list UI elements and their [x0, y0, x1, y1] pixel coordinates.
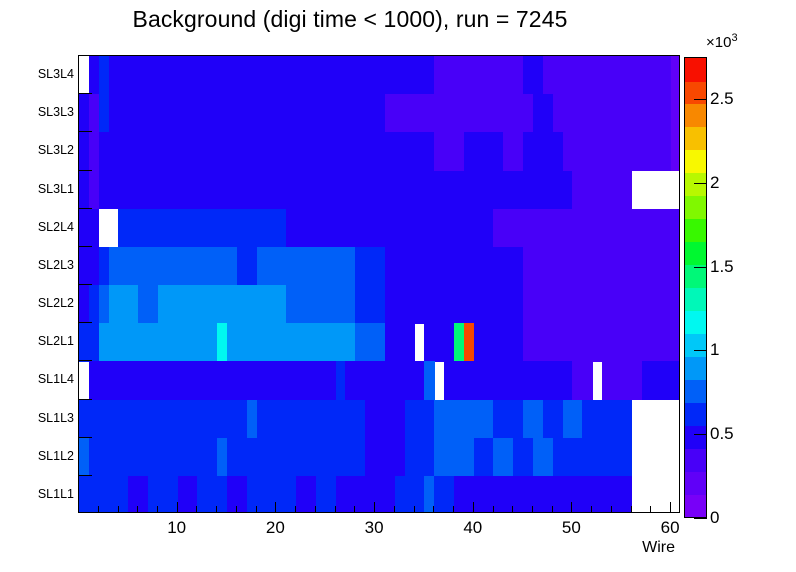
color-bar-tick-label: 0: [710, 508, 719, 528]
x-axis-tick: [552, 506, 553, 513]
heatmap-cell: [622, 400, 632, 439]
y-axis-label-sl2l2: SL2L2: [38, 296, 74, 310]
x-axis-tick: [335, 506, 336, 513]
y-axis-labels: SL3L4SL3L3SL3L2SL3L1SL2L4SL2L3SL2L2SL2L1…: [0, 0, 74, 572]
color-bar-tick-label: 0.5: [710, 424, 734, 444]
heatmap-cell: [405, 323, 415, 362]
x-axis-tick: [315, 506, 316, 513]
color-bar-tick-label: 2: [710, 173, 719, 193]
x-axis-tick-label: 30: [365, 518, 384, 538]
x-axis-tick-label: 60: [661, 518, 680, 538]
x-axis-tick: [118, 506, 119, 513]
y-axis-tick: [78, 399, 92, 400]
color-bar-band: [685, 310, 706, 334]
y-axis-label-sl3l4: SL3L4: [38, 67, 74, 81]
y-axis-tick: [78, 246, 92, 247]
x-axis-tick: [196, 506, 197, 513]
heatmap-cell: [671, 56, 679, 95]
y-axis-label-sl3l2: SL3L2: [38, 143, 74, 157]
y-axis-tick: [78, 131, 92, 132]
root-canvas: Background (digi time < 1000), run = 724…: [0, 0, 796, 572]
x-axis-tick: [473, 502, 474, 513]
y-axis-label-sl1l1: SL1L1: [38, 487, 74, 501]
x-axis-tick-label: 40: [463, 518, 482, 538]
x-axis-tick: [374, 502, 375, 513]
color-bar-band: [685, 356, 706, 380]
color-bar-tick-label: 2.5: [710, 89, 734, 109]
color-bar-tick: [694, 267, 707, 268]
color-bar-band: [685, 127, 706, 151]
y-axis-tick: [78, 170, 92, 171]
heatmap-cell: [671, 94, 679, 133]
y-axis-label-sl2l3: SL2L3: [38, 258, 74, 272]
heatmap-cell: [89, 209, 99, 248]
x-axis-tick: [236, 506, 237, 513]
heatmap-cell: [622, 438, 632, 477]
y-axis-tick: [78, 93, 92, 94]
color-bar: [684, 57, 707, 518]
x-axis-tick: [571, 502, 572, 513]
chart-title: Background (digi time < 1000), run = 724…: [0, 6, 700, 33]
y-axis-label-sl2l1: SL2L1: [38, 334, 74, 348]
color-bar-exponent: ×103: [706, 32, 738, 51]
color-bar-band: [685, 333, 706, 357]
x-axis-tick: [591, 506, 592, 513]
color-bar-tick-label: 1: [710, 340, 719, 360]
x-axis-tick: [512, 506, 513, 513]
color-bar-band: [685, 448, 706, 472]
y-axis-label-sl1l4: SL1L4: [38, 372, 74, 386]
color-bar-exponent-power: 3: [731, 32, 737, 44]
x-axis-tick: [453, 506, 454, 513]
heatmap-cell: [671, 132, 679, 171]
color-bar-exponent-base: ×10: [706, 34, 731, 51]
x-axis-tick-label: 20: [266, 518, 285, 538]
color-bar-band: [685, 104, 706, 128]
color-bar-band: [685, 379, 706, 403]
color-bar-tick: [694, 350, 707, 351]
color-bar-band: [685, 81, 706, 105]
y-axis-tick: [78, 360, 92, 361]
color-bar-band: [685, 58, 706, 82]
heatmap-cell: [622, 171, 632, 210]
y-axis-label-sl1l2: SL1L2: [38, 449, 74, 463]
x-axis-tick: [433, 506, 434, 513]
color-bar-band: [685, 494, 706, 518]
color-bar-band: [685, 288, 706, 312]
x-axis-tick: [650, 506, 651, 513]
x-axis-tick: [394, 506, 395, 513]
color-bar-band: [685, 150, 706, 174]
color-bar-band: [685, 173, 706, 197]
x-axis-tick: [275, 502, 276, 513]
color-bar-band: [685, 471, 706, 495]
y-axis-tick: [78, 322, 92, 323]
x-axis-tick: [137, 506, 138, 513]
x-axis-tick: [216, 506, 217, 513]
heatmap-cell: [582, 361, 592, 400]
plot-frame: [78, 55, 680, 513]
y-axis-tick: [78, 284, 92, 285]
x-axis-tick: [256, 506, 257, 513]
y-axis-tick: [78, 475, 92, 476]
color-bar-tick: [694, 183, 707, 184]
x-axis-tick: [157, 506, 158, 513]
color-bar-tick: [694, 99, 707, 100]
heatmap-cell: [671, 247, 679, 286]
color-bar-band: [685, 196, 706, 220]
x-axis-title: Wire: [642, 539, 675, 557]
color-bar-tick: [694, 518, 707, 519]
x-axis-tick: [611, 506, 612, 513]
y-axis-tick: [78, 208, 92, 209]
color-bar-tick: [694, 434, 707, 435]
color-bar-band: [685, 425, 706, 449]
x-axis-tick: [98, 506, 99, 513]
x-axis-tick: [354, 506, 355, 513]
color-bar-band: [685, 265, 706, 289]
color-bar-band: [685, 242, 706, 266]
heatmap-cell: [671, 209, 679, 248]
y-axis-label-sl3l3: SL3L3: [38, 105, 74, 119]
x-axis-tick: [493, 506, 494, 513]
x-axis-tick-label: 10: [167, 518, 186, 538]
color-bar-band: [685, 219, 706, 243]
heatmap-cell: [671, 323, 679, 362]
x-axis-tick: [631, 506, 632, 513]
x-axis-tick: [414, 506, 415, 513]
heatmap-cell: [671, 361, 679, 400]
x-axis-tick: [177, 502, 178, 513]
x-axis-tick: [295, 506, 296, 513]
color-bar-tick-label: 1.5: [710, 257, 734, 277]
heatmap-cell: [671, 285, 679, 324]
x-axis-tick: [532, 506, 533, 513]
y-axis-label-sl3l1: SL3L1: [38, 182, 74, 196]
x-axis-tick-label: 50: [562, 518, 581, 538]
color-bar-band: [685, 402, 706, 426]
x-axis-tick: [670, 502, 671, 513]
y-axis-label-sl1l3: SL1L3: [38, 411, 74, 425]
y-axis-label-sl2l4: SL2L4: [38, 220, 74, 234]
y-axis-tick: [78, 437, 92, 438]
heatmap-cells: [79, 56, 679, 512]
heatmap-cell: [424, 361, 434, 400]
